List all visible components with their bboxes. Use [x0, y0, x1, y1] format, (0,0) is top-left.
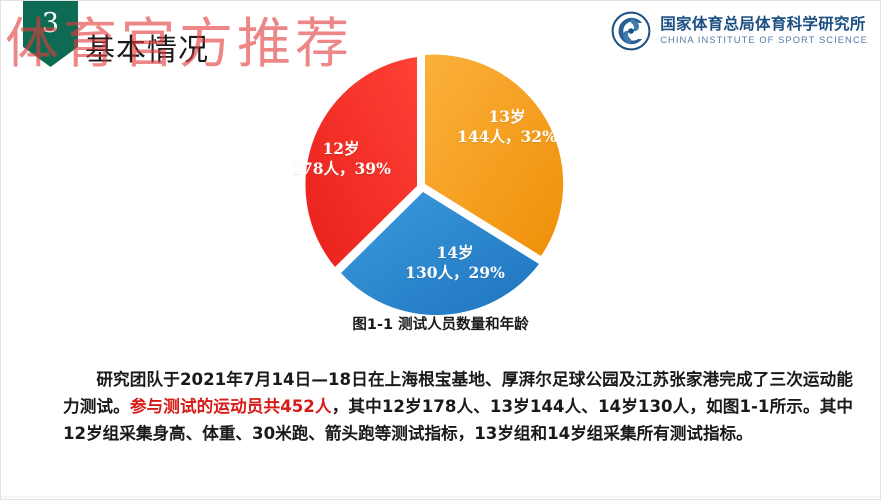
- logo-chinese-name: 国家体育总局体育科学研究所: [660, 16, 868, 33]
- body-text-highlight: 参与测试的运动员共452人: [130, 397, 332, 416]
- institute-logo: 国家体育总局体育科学研究所 CHINA INSTITUTE OF SPORT S…: [611, 11, 868, 51]
- section-number: 3: [23, 0, 78, 51]
- slide-bottom-shadow: [1, 496, 880, 499]
- slide-title: 基本情况: [85, 25, 209, 69]
- logo-text-block: 国家体育总局体育科学研究所 CHINA INSTITUTE OF SPORT S…: [660, 16, 868, 46]
- presentation-slide: 体育官方推荐 3 基本情况 国家体育总局体育科学研究所 CHINA INSTIT…: [0, 0, 881, 500]
- body-paragraph: 研究团队于2021年7月14日—18日在上海根宝基地、厚湃尔足球公园及江苏张家港…: [63, 367, 853, 448]
- pie-chart: 12岁 178人，39% 13岁 144人，32% 14岁 130人，29%: [237, 53, 607, 323]
- section-number-banner: 3: [23, 0, 78, 67]
- figure-caption: 图1-1 测试人员数量和年龄: [1, 313, 880, 334]
- cis-emblem-icon: [611, 11, 651, 51]
- pie-chart-svg: [237, 53, 607, 323]
- logo-english-name: CHINA INSTITUTE OF SPORT SCIENCE: [660, 35, 868, 46]
